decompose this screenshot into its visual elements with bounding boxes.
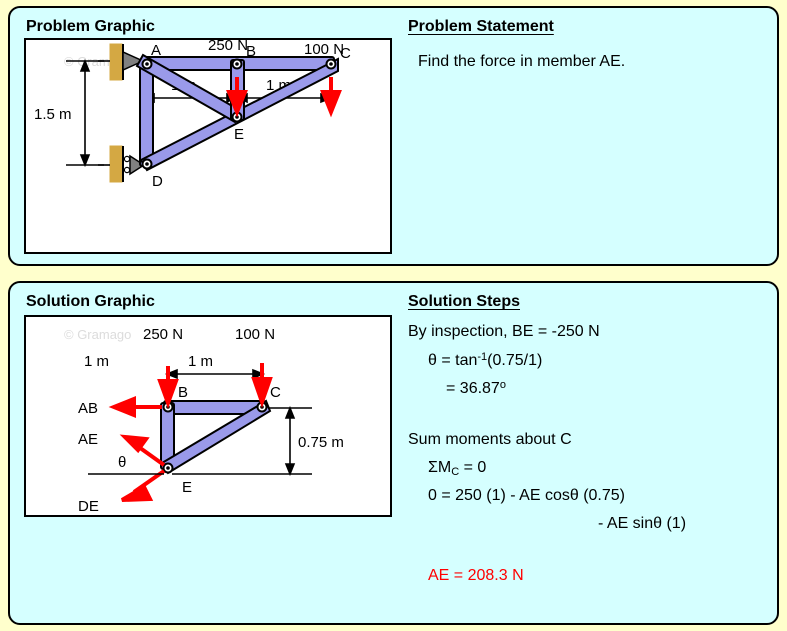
- problem-statement-title: Problem Statement: [408, 18, 554, 36]
- solution-step-2-b: (0.75/1): [487, 352, 542, 369]
- solution-step-2-a: θ = tan: [428, 352, 477, 369]
- joint-label-e: E: [182, 479, 192, 496]
- dimension-bc-group: 1 m: [167, 353, 263, 378]
- solution-step-3-degree: o: [500, 379, 506, 391]
- joint-label-b: B: [246, 43, 256, 60]
- support-roller-d: [98, 146, 144, 182]
- solution-steps-title: Solution Steps: [408, 293, 520, 311]
- problem-graphic-image: © Gramago 1 m 1 m: [24, 38, 392, 254]
- solution-step-5: ΣMC = 0: [428, 459, 486, 478]
- dim-label-bc: 1 m: [188, 353, 213, 370]
- problem-panel: Problem Graphic © Gramago 1 m: [8, 6, 779, 266]
- load-label-250n: 250 N: [208, 40, 248, 54]
- angle-label-theta: θ: [118, 454, 126, 471]
- joint-label-d: D: [152, 173, 163, 190]
- problem-graphic-title: Problem Graphic: [26, 18, 155, 36]
- solution-step-1: By inspection, BE = -250 N: [408, 323, 600, 341]
- dim-label-ce: 0.75 m: [298, 434, 344, 451]
- solution-step-2-exponent: -1: [477, 351, 487, 363]
- joint-label-c: C: [270, 384, 281, 401]
- solution-step-6: 0 = 250 (1) - AE cosθ (0.75): [428, 487, 625, 505]
- problem-truss-diagram: © Gramago 1 m 1 m: [26, 40, 390, 252]
- dim-label-ab: 1 m: [84, 353, 109, 370]
- solution-graphic-title: Solution Graphic: [26, 293, 155, 311]
- fbd-members: [161, 401, 270, 473]
- force-label-ab: AB: [78, 400, 98, 417]
- solution-step-4: Sum moments about C: [408, 431, 572, 449]
- force-label-ae: AE: [78, 431, 98, 448]
- force-label-de: DE: [78, 498, 99, 515]
- joint-label-a: A: [151, 42, 161, 59]
- solution-step-5-a: ΣM: [428, 459, 451, 476]
- force-arrow-de: DE: [78, 471, 164, 515]
- solution-graphic-image: © Gramago 1 m 1 m: [24, 315, 392, 517]
- solution-fbd-diagram: © Gramago 1 m 1 m: [26, 317, 390, 515]
- watermark-text: © Gramago: [64, 327, 131, 342]
- joint-label-b: B: [178, 384, 188, 401]
- joint-label-c: C: [340, 45, 351, 62]
- solution-step-5-b: = 0: [459, 459, 486, 476]
- dimension-vertical-group: 1.5 m: [34, 61, 104, 165]
- load-label-100n: 100 N: [304, 41, 344, 58]
- solution-panel: Solution Graphic © Gramago 1 m 1 m: [8, 281, 779, 625]
- load-label-250n: 250 N: [143, 326, 183, 343]
- solution-step-3-a: = 36.87: [446, 380, 500, 397]
- solution-step-2: θ = tan-1(0.75/1): [428, 351, 542, 370]
- solution-answer: AE = 208.3 N: [428, 567, 524, 585]
- load-label-100n: 100 N: [235, 326, 275, 343]
- solution-step-5-subscript: C: [451, 466, 459, 478]
- joint-label-e: E: [234, 126, 244, 143]
- problem-statement-text: Find the force in member AE.: [418, 53, 625, 71]
- solution-step-3: = 36.87o: [446, 379, 506, 398]
- force-arrow-ab: AB: [78, 399, 162, 417]
- dim-label-ad: 1.5 m: [34, 106, 72, 123]
- solution-step-7: - AE sinθ (1): [598, 515, 686, 533]
